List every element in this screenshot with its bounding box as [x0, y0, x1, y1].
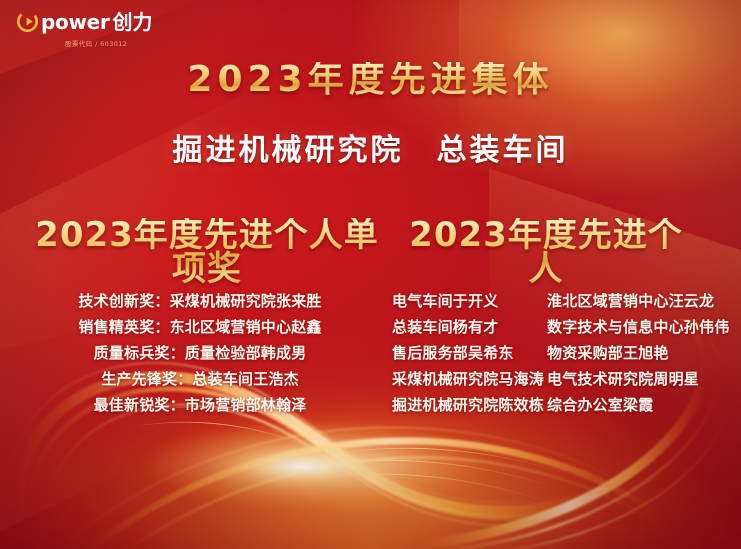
- c-power-ring-icon: [17, 11, 38, 32]
- individual-award-list: 电气车间于开义 淮北区域营销中心汪云龙 总装车间杨有才 数字技术与信息中心孙伟伟…: [392, 288, 722, 418]
- winner-name: 电气车间于开义: [392, 288, 547, 314]
- list-item: 销售精英奖：东北区域营销中心赵鑫: [40, 314, 360, 340]
- list-item: 售后服务部吴希东 物资采购部王旭艳: [392, 340, 722, 366]
- winner-name: 掘进机械研究院陈效栋: [392, 392, 547, 418]
- list-item: 采煤机械研究院马海涛 电气技术研究院周明星: [392, 366, 722, 392]
- winner-name: 电气技术研究院周明星: [547, 366, 722, 392]
- list-item: 质量标兵奖：质量检验部韩成男: [40, 340, 360, 366]
- special-award-list: 技术创新奖：采煤机械研究院张来胜 销售精英奖：东北区域营销中心赵鑫 质量标兵奖：…: [40, 288, 360, 418]
- stock-code-label: 股票代码 / 603012: [65, 38, 127, 48]
- winner-name: 淮北区域营销中心汪云龙: [547, 288, 722, 314]
- section-heading-individual-special-awards: 2023年度先进个人单项奖: [22, 218, 392, 286]
- winner-name: 物资采购部王旭艳: [547, 340, 722, 366]
- logo-row: power 创力: [17, 11, 152, 32]
- winner-name: 售后服务部吴希东: [392, 340, 547, 366]
- list-item: 生产先锋奖：总装车间王浩杰: [40, 366, 360, 392]
- list-item: 技术创新奖：采煤机械研究院张来胜: [40, 288, 360, 314]
- award-poster: power 创力 股票代码 / 603012 2023年度先进集体 掘进机械研究…: [0, 0, 741, 549]
- logo-wordmark-cn: 创力: [112, 12, 152, 32]
- section-heading-individual-awards: 2023年度先进个人: [396, 218, 696, 286]
- page-title: 2023年度先进集体: [0, 62, 741, 98]
- brand-logo: power 创力 股票代码 / 603012: [17, 11, 152, 48]
- list-item: 掘进机械研究院陈效栋 综合办公室梁霞: [392, 392, 722, 418]
- winner-name: 总装车间杨有才: [392, 314, 547, 340]
- winner-name: 数字技术与信息中心孙伟伟: [547, 314, 722, 340]
- winner-name: 综合办公室梁霞: [547, 392, 722, 418]
- logo-wordmark: power: [41, 12, 109, 32]
- collective-winners-subtitle: 掘进机械研究院 总装车间: [0, 136, 741, 166]
- list-item: 电气车间于开义 淮北区域营销中心汪云龙: [392, 288, 722, 314]
- list-item: 最佳新锐奖：市场营销部林翰泽: [40, 392, 360, 418]
- list-item: 总装车间杨有才 数字技术与信息中心孙伟伟: [392, 314, 722, 340]
- winner-name: 采煤机械研究院马海涛: [392, 366, 547, 392]
